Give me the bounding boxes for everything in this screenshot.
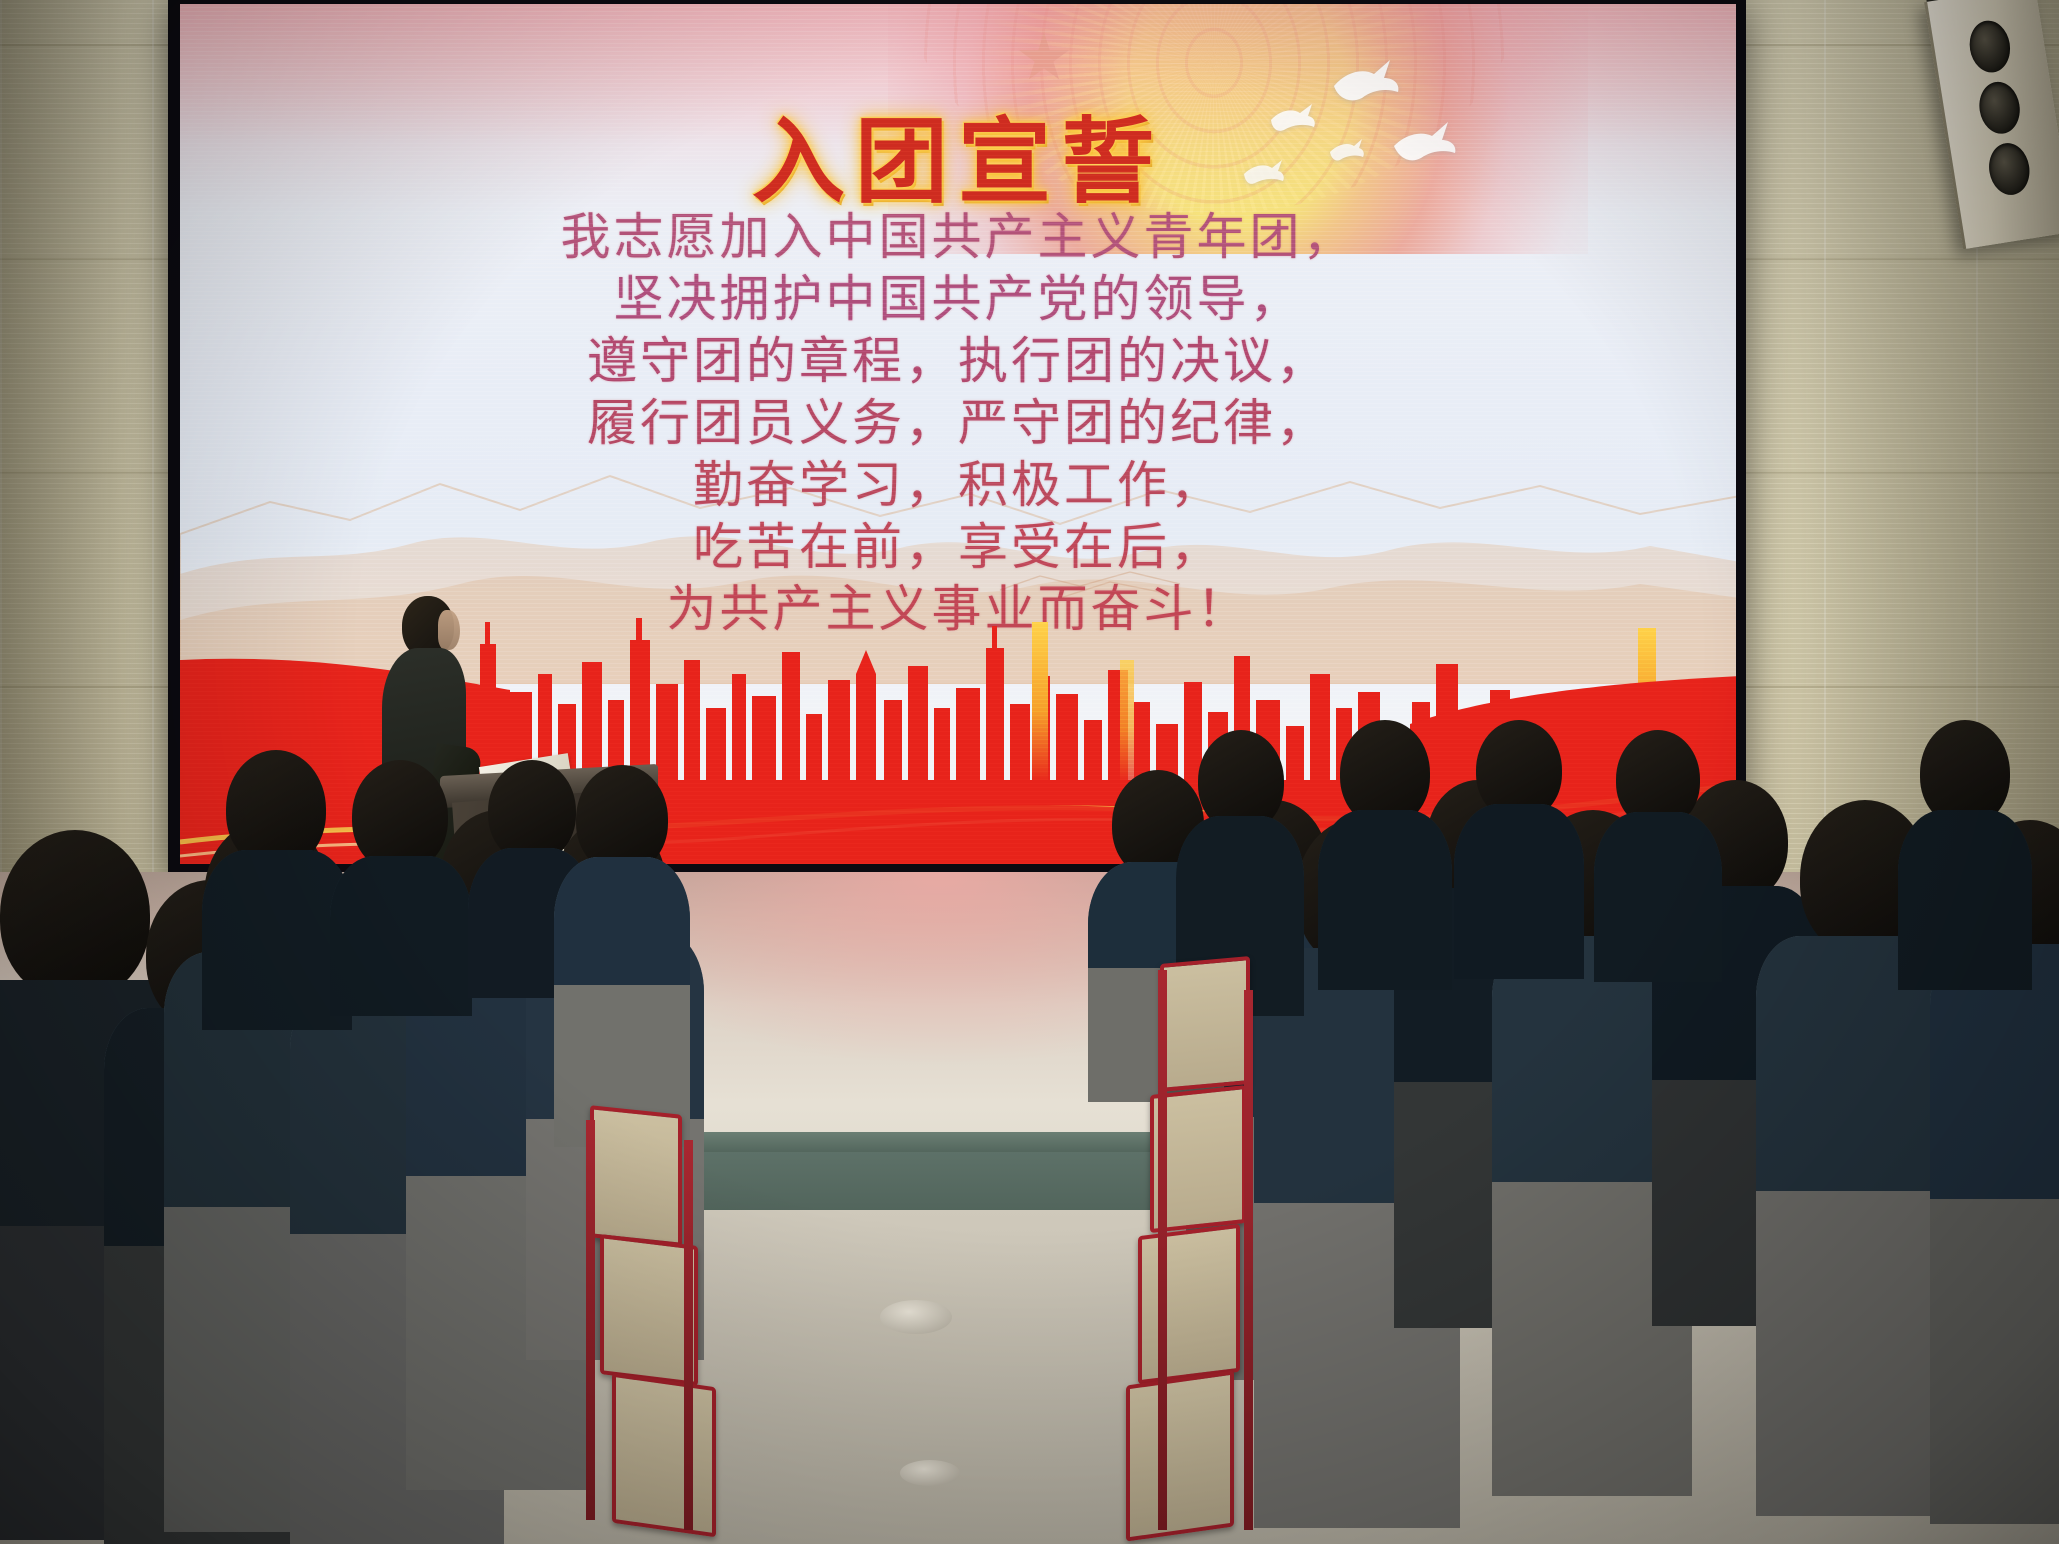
- oath-line: 履行团员义务，严守团的纪律，: [180, 392, 1736, 454]
- oath-line: 遵守团的章程，执行团的决议，: [180, 330, 1736, 392]
- auditorium-seat[interactable]: [1138, 1224, 1240, 1385]
- oath-line: 勤奋学习，积极工作，: [180, 454, 1736, 516]
- presenter-face: [438, 610, 460, 650]
- student-figure: [1900, 720, 2030, 960]
- seat-post: [1158, 970, 1167, 1530]
- student-figure: [556, 765, 686, 1125]
- auditorium-photo: 入团宣誓 我志愿加入中国共产主义青年团， 坚决拥护中国共产党的领导， 遵守团的章…: [0, 0, 2059, 1544]
- audience-area: [0, 840, 2059, 1544]
- oath-line: 坚决拥护中国共产党的领导，: [180, 268, 1736, 330]
- oath-text-block: 我志愿加入中国共产主义青年团， 坚决拥护中国共产党的领导， 遵守团的章程，执行团…: [180, 206, 1736, 640]
- oath-line: 我志愿加入中国共产主义青年团，: [180, 206, 1736, 268]
- oath-line: 吃苦在前，享受在后，: [180, 516, 1736, 578]
- seat-post: [586, 1120, 595, 1520]
- seat-post: [1244, 990, 1253, 1530]
- wall-shadow-left: [0, 0, 150, 900]
- slide-title: 入团宣誓: [180, 86, 1736, 221]
- auditorium-seat[interactable]: [1126, 1370, 1234, 1541]
- student-figure: [330, 760, 470, 990]
- student-figure: [1460, 720, 1580, 950]
- auditorium-seat[interactable]: [1160, 956, 1250, 1092]
- student-figure: [200, 750, 350, 1010]
- student-figure: [1320, 720, 1450, 960]
- seat-post: [684, 1140, 693, 1530]
- student-figure: [1600, 730, 1720, 950]
- auditorium-seat[interactable]: [612, 1373, 716, 1538]
- auditorium-seat[interactable]: [590, 1105, 682, 1247]
- student-figure: [1180, 730, 1300, 990]
